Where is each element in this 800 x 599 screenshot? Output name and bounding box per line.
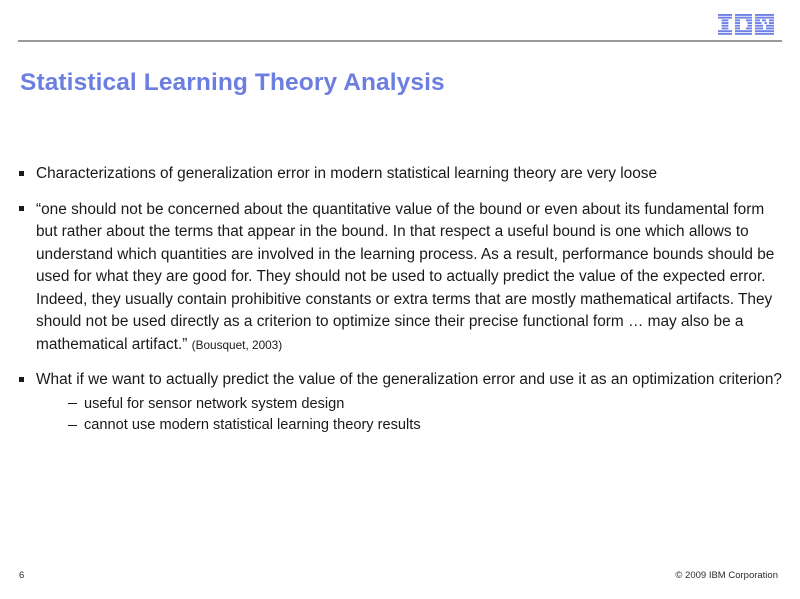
bullet-text: Characterizations of generalization erro… xyxy=(36,163,784,186)
presentation-slide: Statistical Learning Theory Analysis Cha… xyxy=(0,0,800,599)
citation-text: (Bousquet, 2003) xyxy=(192,338,283,352)
bullet-item: Characterizations of generalization erro… xyxy=(18,163,784,186)
square-bullet-icon xyxy=(19,171,24,176)
sub-bullet-text: useful for sensor network system design xyxy=(84,396,344,412)
bullet-item: “one should not be concerned about the q… xyxy=(18,199,784,357)
square-bullet-icon xyxy=(19,206,24,211)
sub-bullet-list: useful for sensor network system design … xyxy=(36,394,784,437)
bullet-text: What if we want to actually predict the … xyxy=(36,369,784,392)
bullet-text: “one should not be concerned about the q… xyxy=(36,199,784,357)
page-number: 6 xyxy=(19,570,24,581)
copyright-notice: © 2009 IBM Corporation xyxy=(675,570,778,581)
bullet-item: What if we want to actually predict the … xyxy=(18,369,784,437)
sub-bullet-item: cannot use modern statistical learning t… xyxy=(68,415,784,437)
dash-bullet-icon xyxy=(68,425,77,426)
ibm-logo xyxy=(718,14,774,35)
header-divider xyxy=(18,40,782,42)
quote-text: “one should not be concerned about the q… xyxy=(36,201,774,353)
sub-bullet-item: useful for sensor network system design xyxy=(68,394,784,416)
slide-body: Characterizations of generalization erro… xyxy=(18,163,784,437)
dash-bullet-icon xyxy=(68,403,77,404)
page-title: Statistical Learning Theory Analysis xyxy=(20,68,760,98)
sub-bullet-text: cannot use modern statistical learning t… xyxy=(84,417,421,433)
square-bullet-icon xyxy=(19,377,24,382)
